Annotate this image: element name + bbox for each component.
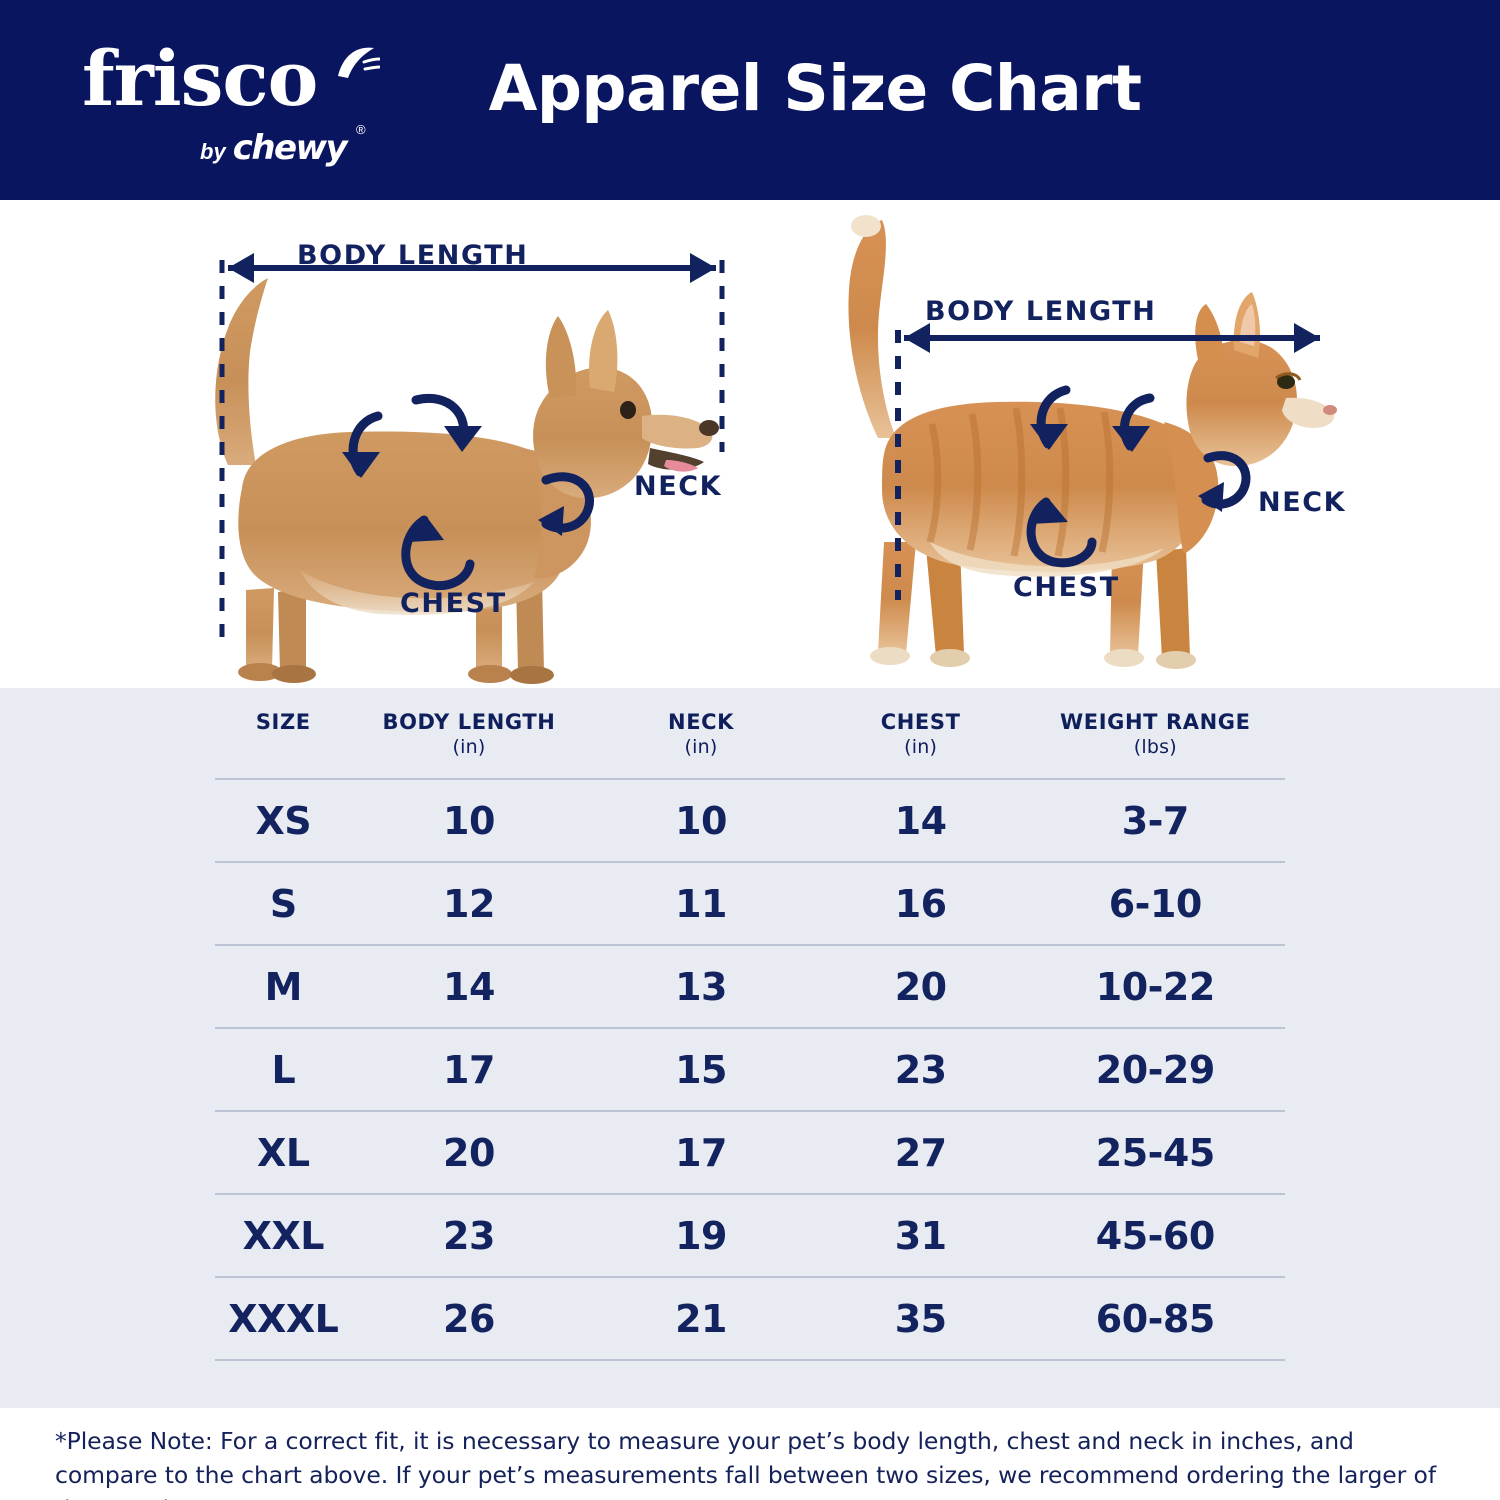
dog-neck-label: NECK [634, 471, 722, 502]
column-header-size-label: SIZE [256, 710, 311, 734]
logo-byline: by chewy [200, 128, 346, 168]
cell-body_length: 10 [352, 779, 587, 862]
cell-size: S [215, 862, 352, 945]
dog-paw-2 [272, 665, 316, 683]
illustration-area: BODY LENGTH NECK CHEST [0, 200, 1500, 688]
cell-body_length: 12 [352, 862, 587, 945]
column-header-neck: NECK (in) [586, 688, 815, 779]
cell-neck: 11 [586, 862, 815, 945]
column-header-body-length: BODY LENGTH (in) [352, 688, 587, 779]
page-title: Apparel Size Chart [0, 52, 1500, 125]
table-row: S1211166-10 [215, 862, 1285, 945]
cell-size: XL [215, 1111, 352, 1194]
cat-paw-4 [1156, 651, 1196, 669]
cell-neck: 19 [586, 1194, 815, 1277]
table-row: XL20172725-45 [215, 1111, 1285, 1194]
cat-front-leg-near [1156, 548, 1190, 658]
header-band: frisco ® by chewy Apparel Size Chart [0, 0, 1500, 200]
dog-arrow-head-right [690, 253, 716, 283]
column-header-neck-unit: (in) [586, 735, 815, 760]
cell-body_length: 26 [352, 1277, 587, 1360]
cell-chest: 16 [816, 862, 1026, 945]
cell-weight_range: 25-45 [1026, 1111, 1285, 1194]
cell-weight_range: 3-7 [1026, 779, 1285, 862]
table-row: M14132010-22 [215, 945, 1285, 1028]
cell-weight_range: 45-60 [1026, 1194, 1285, 1277]
cell-chest: 14 [816, 779, 1026, 862]
cell-neck: 15 [586, 1028, 815, 1111]
cell-size: L [215, 1028, 352, 1111]
cell-chest: 35 [816, 1277, 1026, 1360]
cell-neck: 21 [586, 1277, 815, 1360]
cell-weight_range: 6-10 [1026, 862, 1285, 945]
dog-body-length-label: BODY LENGTH [297, 240, 528, 271]
cell-size: XS [215, 779, 352, 862]
cat-tail-tip [851, 215, 881, 237]
dog-eye [620, 401, 636, 419]
apparel-size-chart-page: frisco ® by chewy Apparel Size Chart [0, 0, 1500, 1500]
dog-paw-4 [510, 666, 554, 684]
column-header-chest: CHEST (in) [816, 688, 1026, 779]
cat-tail [848, 220, 896, 438]
table-row: XXXL26213560-85 [215, 1277, 1285, 1360]
column-header-chest-label: CHEST [881, 710, 961, 734]
cat-paw-2 [930, 649, 970, 667]
column-header-weight-range-unit: (lbs) [1026, 735, 1285, 760]
table-row: L17152320-29 [215, 1028, 1285, 1111]
cell-size: XXL [215, 1194, 352, 1277]
cat-nose [1323, 405, 1337, 415]
cell-body_length: 23 [352, 1194, 587, 1277]
cat-illustration [820, 212, 1350, 688]
cat-neck-label: NECK [1258, 487, 1346, 518]
dog-paw-3 [468, 665, 512, 683]
dog-hind-leg-near [278, 588, 306, 672]
cell-neck: 10 [586, 779, 815, 862]
table-row: XXL23193145-60 [215, 1194, 1285, 1277]
cat-paw-1 [870, 647, 910, 665]
cell-neck: 17 [586, 1111, 815, 1194]
column-header-chest-unit: (in) [816, 735, 1026, 760]
table-row: XS1010143-7 [215, 779, 1285, 862]
column-header-weight-range-label: WEIGHT RANGE [1060, 710, 1251, 734]
footer-area: *Please Note: For a correct fit, it is n… [0, 1408, 1500, 1500]
cell-weight_range: 20-29 [1026, 1028, 1285, 1111]
logo-byline-prefix: by [200, 139, 226, 165]
column-header-weight-range: WEIGHT RANGE (lbs) [1026, 688, 1285, 779]
cat-paw-3 [1104, 649, 1144, 667]
cell-body_length: 17 [352, 1028, 587, 1111]
cell-weight_range: 10-22 [1026, 945, 1285, 1028]
table-header-row: SIZE BODY LENGTH (in) NECK (in) CHEST (i… [215, 688, 1285, 779]
column-header-neck-label: NECK [668, 710, 734, 734]
cell-size: M [215, 945, 352, 1028]
cat-ear-far [1195, 304, 1224, 360]
column-header-body-length-unit: (in) [352, 735, 587, 760]
cell-body_length: 14 [352, 945, 587, 1028]
dog-chest-label: CHEST [400, 588, 507, 619]
size-table-area: SIZE BODY LENGTH (in) NECK (in) CHEST (i… [0, 688, 1500, 1408]
cell-chest: 31 [816, 1194, 1026, 1277]
cat-body-length-label: BODY LENGTH [925, 296, 1156, 327]
column-header-size: SIZE [215, 688, 352, 779]
cell-chest: 23 [816, 1028, 1026, 1111]
cell-chest: 27 [816, 1111, 1026, 1194]
table-body: XS1010143-7S1211166-10M14132010-22L17152… [215, 779, 1285, 1360]
cell-chest: 20 [816, 945, 1026, 1028]
cell-weight_range: 60-85 [1026, 1277, 1285, 1360]
dog-nose [699, 420, 719, 436]
dog-arrow-head-left [228, 253, 254, 283]
cell-body_length: 20 [352, 1111, 587, 1194]
dog-hind-leg-far [246, 588, 274, 670]
dog-ear-far [546, 316, 576, 398]
please-note-text: *Please Note: For a correct fit, it is n… [55, 1424, 1455, 1500]
cat-arrow-head-left [904, 323, 930, 353]
cat-arrow-head-right [1294, 323, 1320, 353]
column-header-body-length-label: BODY LENGTH [383, 710, 556, 734]
logo-byline-brand: chewy [233, 128, 347, 168]
cat-chest-label: CHEST [1013, 572, 1120, 603]
cell-size: XXXL [215, 1277, 352, 1360]
cell-neck: 13 [586, 945, 815, 1028]
dog-ear-near [589, 310, 617, 392]
size-chart-table: SIZE BODY LENGTH (in) NECK (in) CHEST (i… [215, 688, 1285, 1361]
